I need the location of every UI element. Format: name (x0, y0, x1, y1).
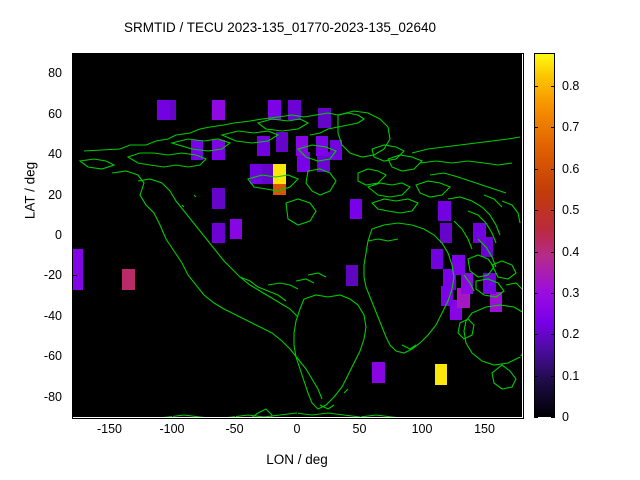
x-tick (422, 412, 423, 417)
y-tick (517, 154, 522, 155)
colorbar-tick (551, 169, 555, 170)
y-tick-label: 40 (0, 147, 62, 161)
y-tick (517, 195, 522, 196)
map-plot-area[interactable] (72, 53, 522, 417)
y-tick (72, 397, 77, 398)
x-tick (110, 412, 111, 417)
colorbar-tick-label: 0.3 (562, 286, 579, 300)
x-tick (172, 53, 173, 58)
colorbar-tick (534, 376, 538, 377)
y-tick (72, 154, 77, 155)
x-tick (297, 412, 298, 417)
colorbar-tick-label: 0.7 (562, 120, 579, 134)
y-tick (517, 356, 522, 357)
x-tick-label: 0 (294, 422, 301, 436)
colorbar-tick-label: 0.4 (562, 245, 579, 259)
x-tick (485, 412, 486, 417)
x-tick (422, 53, 423, 58)
colorbar-tick (551, 334, 555, 335)
colorbar-tick (551, 86, 555, 87)
colorbar-tick (534, 334, 538, 335)
colorbar-tick-label: 0 (562, 410, 569, 424)
colorbar-tick (534, 169, 538, 170)
x-tick (360, 53, 361, 58)
colorbar-tick (534, 293, 538, 294)
y-tick (517, 316, 522, 317)
colorbar-tick (534, 252, 538, 253)
y-tick-label: -60 (0, 349, 62, 363)
y-tick-label: -20 (0, 268, 62, 282)
page-title: SRMTID / TECU 2023-135_01770-2023-135_02… (0, 20, 560, 35)
y-tick (72, 235, 77, 236)
colorbar-tick (534, 86, 538, 87)
colorbar-tick-label: 0.8 (562, 79, 579, 93)
y-tick-label: 60 (0, 107, 62, 121)
colorbar-tick-label: 0.6 (562, 162, 579, 176)
colorbar-tick (551, 293, 555, 294)
x-tick-label: 50 (353, 422, 367, 436)
x-tick (485, 53, 486, 58)
y-tick-label: 0 (0, 228, 62, 242)
y-tick (72, 73, 77, 74)
y-tick (72, 275, 77, 276)
x-tick (235, 412, 236, 417)
colorbar-tick-label: 0.5 (562, 203, 579, 217)
y-tick-label: 80 (0, 66, 62, 80)
y-tick (72, 114, 77, 115)
y-tick (517, 397, 522, 398)
coastline-overlay (72, 53, 522, 417)
colorbar-tick (551, 252, 555, 253)
x-tick-label: -100 (159, 422, 184, 436)
x-tick-label: 100 (412, 422, 433, 436)
colorbar-tick (551, 127, 555, 128)
x-tick (235, 53, 236, 58)
colorbar-tick-label: 0.2 (562, 327, 579, 341)
x-tick (297, 53, 298, 58)
srmtid-tecu-map-figure: SRMTID / TECU 2023-135_01770-2023-135_02… (0, 0, 640, 480)
colorbar-tick (534, 127, 538, 128)
colorbar-tick (551, 417, 555, 418)
x-tick (110, 53, 111, 58)
y-tick (72, 356, 77, 357)
x-tick-label: -150 (97, 422, 122, 436)
x-tick-label: -50 (225, 422, 243, 436)
y-tick (517, 275, 522, 276)
x-tick (172, 412, 173, 417)
y-tick (517, 114, 522, 115)
colorbar[interactable] (534, 53, 555, 417)
y-tick (517, 73, 522, 74)
x-tick-label: 150 (474, 422, 495, 436)
colorbar-tick (551, 210, 555, 211)
colorbar-tick (534, 210, 538, 211)
y-tick (72, 316, 77, 317)
colorbar-tick-label: 0.1 (562, 369, 579, 383)
y-tick-label: -40 (0, 309, 62, 323)
x-tick (360, 412, 361, 417)
colorbar-tick (534, 417, 538, 418)
y-tick (72, 195, 77, 196)
colorbar-tick (551, 376, 555, 377)
colorbar-gradient (534, 53, 555, 417)
x-axis-label: LON / deg (72, 452, 522, 467)
y-tick-label: -80 (0, 390, 62, 404)
y-tick (517, 235, 522, 236)
y-tick-label: 20 (0, 188, 62, 202)
